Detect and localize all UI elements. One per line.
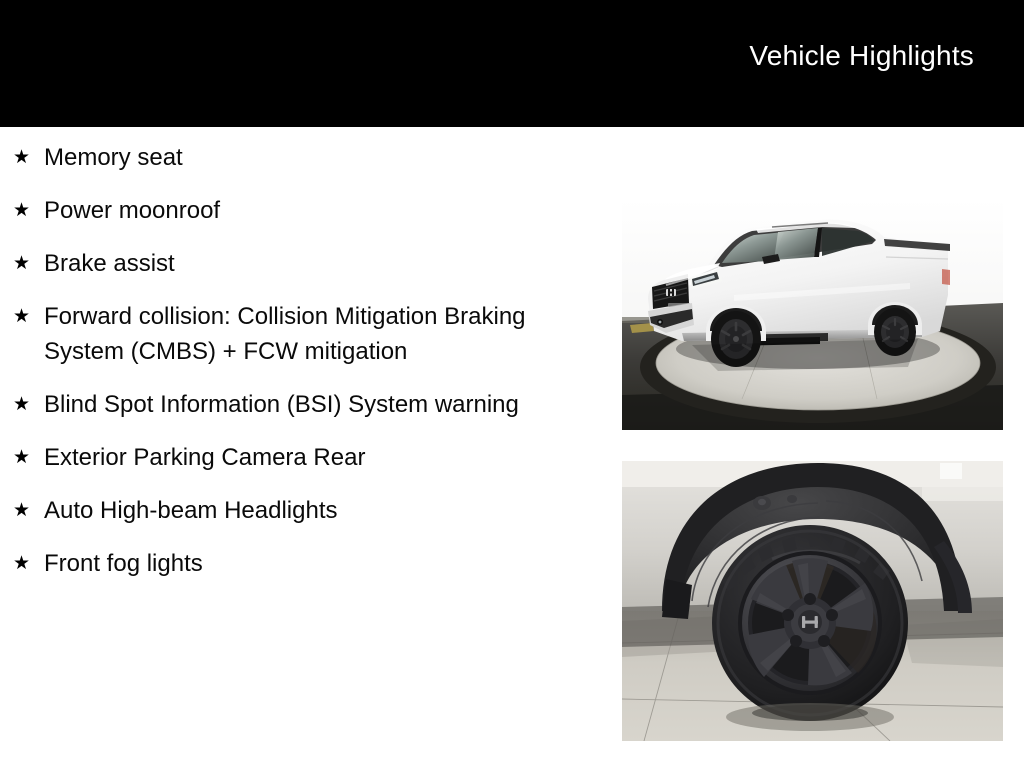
feature-label: Forward collision: Collision Mitigation … [44, 299, 544, 369]
star-icon: ★ [13, 546, 44, 581]
star-icon: ★ [13, 246, 44, 281]
header-bar: Vehicle Highlights [0, 0, 1024, 127]
vehicle-features-list: ★ Memory seat ★ Power moonroof ★ Brake a… [0, 140, 600, 599]
feature-label: Auto High-beam Headlights [44, 493, 544, 528]
feature-label: Front fog lights [44, 546, 544, 581]
list-item: ★ Front fog lights [0, 546, 600, 581]
wheel-closeup-photo [622, 461, 1003, 741]
vehicle-highlights-slide: Vehicle Highlights ★ Memory seat ★ Power… [0, 0, 1024, 768]
truck-exterior-photo [622, 199, 1003, 430]
list-item: ★ Brake assist [0, 246, 600, 281]
star-icon: ★ [13, 440, 44, 475]
feature-label: Memory seat [44, 140, 544, 175]
list-item: ★ Memory seat [0, 140, 600, 175]
feature-label: Power moonroof [44, 193, 544, 228]
list-item: ★ Forward collision: Collision Mitigatio… [0, 299, 600, 369]
feature-label: Exterior Parking Camera Rear [44, 440, 544, 475]
page-title: Vehicle Highlights [749, 40, 1024, 72]
list-item: ★ Auto High-beam Headlights [0, 493, 600, 528]
star-icon: ★ [13, 387, 44, 422]
list-item: ★ Blind Spot Information (BSI) System wa… [0, 387, 600, 422]
feature-label: Blind Spot Information (BSI) System warn… [44, 387, 544, 422]
star-icon: ★ [13, 140, 44, 175]
list-item: ★ Power moonroof [0, 193, 600, 228]
list-item: ★ Exterior Parking Camera Rear [0, 440, 600, 475]
star-icon: ★ [13, 299, 44, 334]
feature-label: Brake assist [44, 246, 544, 281]
star-icon: ★ [13, 493, 44, 528]
star-icon: ★ [13, 193, 44, 228]
